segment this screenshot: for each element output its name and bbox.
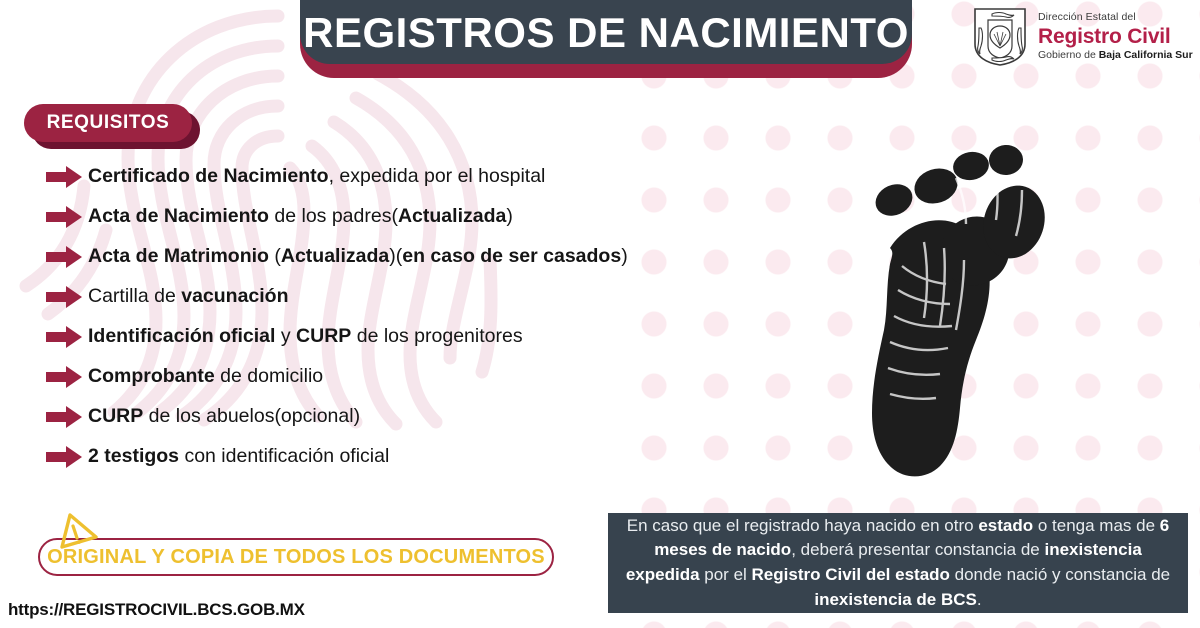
requirement-text-bold: Acta de Matrimonio — [88, 245, 269, 267]
requirement-text-rest: de los progenitores — [351, 325, 522, 347]
requirement-item: Comprobante de domicilio — [46, 357, 806, 397]
institution-logo: Dirección Estatal del Registro Civil Gob… — [972, 6, 1193, 68]
note-text: En caso que el registrado haya nacido en… — [622, 514, 1174, 613]
requirement-text-bold: Comprobante — [88, 365, 215, 387]
requirement-text-rest: de los abuelos(opcional) — [143, 405, 360, 427]
right-arrow-icon — [46, 326, 82, 348]
requirements-list: Certificado de Nacimiento, expedida por … — [46, 157, 806, 477]
poster-canvas: REGISTROS DE NACIMIENTO Dirección Estata… — [0, 0, 1200, 628]
requirement-text-rest: )( — [389, 245, 402, 267]
header-bar: REGISTROS DE NACIMIENTO — [300, 0, 912, 64]
note-emphasis: inexistencia de BCS — [814, 590, 977, 609]
warning-triangle-icon — [54, 511, 100, 551]
note-emphasis: estado — [978, 516, 1033, 535]
requirement-text-bold: Identificación oficial — [88, 325, 275, 347]
requirement-label: Acta de Nacimiento de los padres(Actuali… — [88, 206, 513, 227]
warning-banner: ORIGINAL Y COPIA DE TODOS LOS DOCUMENTOS — [38, 538, 554, 576]
requirement-text-bold: 2 testigos — [88, 445, 179, 467]
requirement-text-bold: en caso de ser casados — [402, 245, 621, 267]
requirement-item: Cartilla de vacunación — [46, 277, 806, 317]
requirement-item: Acta de Nacimiento de los padres(Actuali… — [46, 197, 806, 237]
requirement-item: CURP de los abuelos(opcional) — [46, 397, 806, 437]
requisitos-badge: REQUISITOS — [24, 104, 192, 142]
logo-line-1: Dirección Estatal del — [1038, 12, 1193, 24]
requirement-label: 2 testigos con identificación oficial — [88, 446, 389, 467]
requisitos-badge-body: REQUISITOS — [24, 104, 192, 142]
requirement-text-bold: Actualizada — [281, 245, 389, 267]
baby-footprint-icon — [828, 138, 1068, 488]
requirement-text-bold: CURP — [88, 405, 143, 427]
warning-pill: ORIGINAL Y COPIA DE TODOS LOS DOCUMENTOS — [38, 538, 554, 576]
requirement-text-bold: CURP — [296, 325, 351, 347]
note-emphasis: Registro Civil del estado — [752, 565, 950, 584]
requirement-text-rest: ) — [621, 245, 628, 267]
logo-line-3-prefix: Gobierno de — [1038, 49, 1099, 61]
requirement-text-bold: Acta de Nacimiento — [88, 205, 269, 227]
right-arrow-icon — [46, 206, 82, 228]
logo-line-3: Gobierno de Baja California Sur — [1038, 50, 1193, 62]
requisitos-badge-label: REQUISITOS — [47, 112, 170, 134]
right-arrow-icon — [46, 406, 82, 428]
note-segment: , deberá presentar constancia de — [791, 540, 1044, 559]
warning-label: ORIGINAL Y COPIA DE TODOS LOS DOCUMENTOS — [47, 546, 545, 569]
requirement-text-rest: ) — [506, 205, 513, 227]
right-arrow-icon — [46, 366, 82, 388]
note-segment: En caso que el registrado haya nacido en… — [627, 516, 979, 535]
requirement-label: CURP de los abuelos(opcional) — [88, 406, 360, 427]
requirement-item: Identificación oficial y CURP de los pro… — [46, 317, 806, 357]
requirement-text-rest: con identificación oficial — [179, 445, 389, 467]
requirement-text-rest: de domicilio — [215, 365, 323, 387]
right-arrow-icon — [46, 446, 82, 468]
requirement-text-bold: vacunación — [181, 285, 288, 307]
requirement-label: Acta de Matrimonio (Actualizada)(en caso… — [88, 246, 628, 267]
requirement-text-bold: Certificado de Nacimiento — [88, 165, 329, 187]
website-url[interactable]: https://REGISTROCIVIL.BCS.GOB.MX — [8, 600, 305, 620]
requirement-text-rest: , expedida por el hospital — [329, 165, 546, 187]
right-arrow-icon — [46, 166, 82, 188]
note-segment: o tenga mas de — [1033, 516, 1160, 535]
requirement-label: Comprobante de domicilio — [88, 366, 323, 387]
requirement-text-plain: Cartilla de — [88, 285, 181, 307]
requirement-label: Certificado de Nacimiento, expedida por … — [88, 166, 545, 187]
logo-line-2: Registro Civil — [1038, 25, 1193, 49]
requirement-text-rest: y — [275, 325, 296, 347]
requirement-item: Certificado de Nacimiento, expedida por … — [46, 157, 806, 197]
requirement-label: Identificación oficial y CURP de los pro… — [88, 326, 523, 347]
page-title: REGISTROS DE NACIMIENTO — [303, 12, 909, 54]
requirement-text-rest: ( — [269, 245, 281, 267]
note-segment: donde nació y constancia de — [950, 565, 1170, 584]
requirement-item: Acta de Matrimonio (Actualizada)(en caso… — [46, 237, 806, 277]
note-segment: . — [977, 590, 982, 609]
requirement-label: Cartilla de vacunación — [88, 286, 289, 307]
coat-of-arms-shield-icon — [972, 6, 1028, 68]
note-segment: por el — [700, 565, 752, 584]
requirement-text-rest: de los padres( — [269, 205, 398, 227]
requirement-text-bold: Actualizada — [398, 205, 506, 227]
right-arrow-icon — [46, 246, 82, 268]
logo-line-3-bold: Baja California Sur — [1099, 49, 1193, 61]
requirement-item: 2 testigos con identificación oficial — [46, 437, 806, 477]
right-arrow-icon — [46, 286, 82, 308]
note-box: En caso que el registrado haya nacido en… — [608, 513, 1188, 613]
